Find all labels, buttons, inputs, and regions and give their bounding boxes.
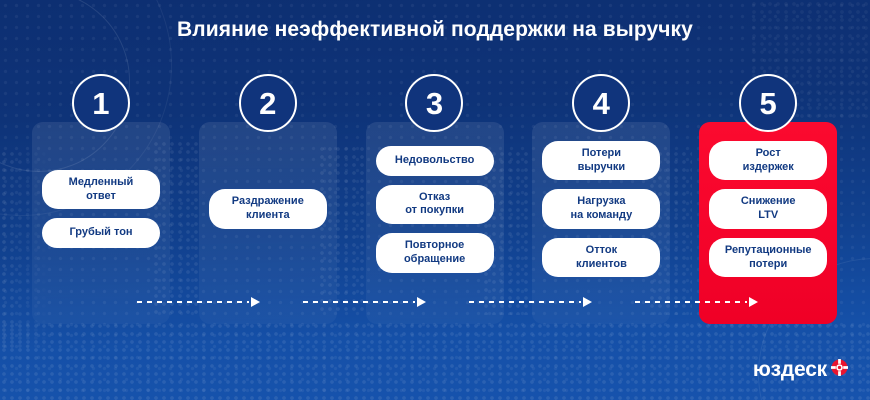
stage-item: Нагрузка на команду [542,189,660,229]
brand-logo: юздеск [753,358,848,382]
stage-chips-5: Рост издержек Снижение LTV Репутационные… [699,122,837,324]
connector-2-to-3 [303,297,426,306]
connector-4-to-5 [635,297,758,306]
stage-chips-3: Недовольство Отказ от покупки Повторное … [366,122,504,324]
connector-3-to-4 [469,297,592,306]
connector-dots [469,301,581,303]
stage-item: Снижение LTV [709,189,827,229]
halftone-texture [0,322,870,400]
arrow-head-icon [417,297,426,307]
connector-dots [303,301,415,303]
arrow-head-icon [583,297,592,307]
infographic-canvas: Влияние неэффективной поддержки на выруч… [0,0,870,400]
stage-badge-4: 4 [572,74,630,132]
stage-item: Отказ от покупки [376,185,494,225]
stage-item: Медленный ответ [42,170,160,210]
stage-item: Потери выручки [542,141,660,181]
stage-badge-1: 1 [72,74,130,132]
stage-badge-3: 3 [405,74,463,132]
stage-badge-2: 2 [239,74,297,132]
stage-column-3: 3 Недовольство Отказ от покупки Повторно… [352,122,518,324]
stage-item: Недовольство [376,146,494,176]
stage-column-4: 4 Потери выручки Нагрузка на команду Отт… [518,122,684,324]
stage-item: Раздражение клиента [209,189,327,229]
stage-column-1: 1 Медленный ответ Грубый тон [18,122,184,324]
stage-item: Повторное обращение [376,233,494,273]
stage-chips-1: Медленный ответ Грубый тон [32,122,170,324]
stage-column-2: 2 Раздражение клиента [185,122,351,324]
stage-badge-5: 5 [739,74,797,132]
stage-item: Репутационные потери [709,238,827,278]
connector-dots [137,301,249,303]
page-title: Влияние неэффективной поддержки на выруч… [0,18,870,42]
arrow-head-icon [251,297,260,307]
lifebuoy-icon [831,359,848,376]
stage-column-5: 5 Рост издержек Снижение LTV Репутационн… [685,122,851,324]
brand-name: юздеск [753,358,827,382]
stage-chips-4: Потери выручки Нагрузка на команду Отток… [532,122,670,324]
stage-item: Рост издержек [709,141,827,181]
stage-chips-2: Раздражение клиента [199,122,337,324]
stage-item: Отток клиентов [542,238,660,278]
connector-dots [635,301,747,303]
stage-item: Грубый тон [42,218,160,248]
arrow-head-icon [749,297,758,307]
connector-1-to-2 [137,297,260,306]
stage-list: 1 Медленный ответ Грубый тон 2 Раздражен… [18,122,852,324]
